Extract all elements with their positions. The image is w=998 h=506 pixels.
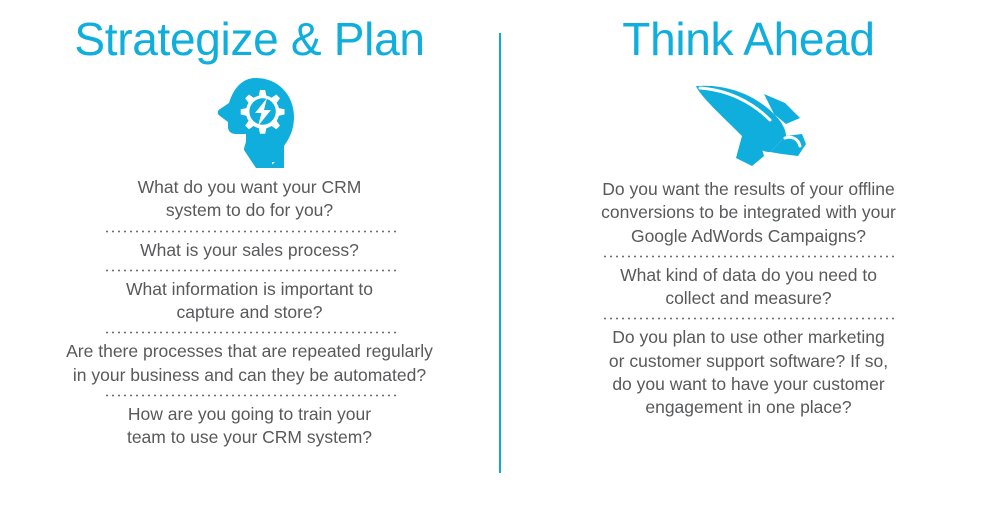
question-list-left: What do you want your CRM system to do f… [0,176,499,449]
list-item: How are you going to train your team to … [30,403,470,450]
column-strategize-plan: Strategize & Plan What do y [0,0,499,506]
dotted-separator [104,230,396,233]
column-title-right: Think Ahead [622,0,874,62]
infographic-root: Strategize & Plan What do y [0,0,998,506]
dotted-separator [602,255,896,258]
list-item: Are there processes that are repeated re… [30,340,470,387]
list-item: What is your sales process? [30,239,470,262]
list-item: What do you want your CRM system to do f… [30,176,470,223]
head-gear-lightning-icon [198,76,302,168]
rocket-icon [690,76,808,168]
dotted-separator [602,317,896,320]
dotted-separator [104,331,396,334]
dotted-separator [104,394,396,397]
column-think-ahead: Think Ahead Do you wa [499,0,998,506]
list-item: Do you want the results of your offline … [549,178,949,248]
list-item: Do you plan to use other marketing or cu… [549,326,949,419]
column-title-left: Strategize & Plan [74,0,424,62]
question-list-right: Do you want the results of your offline … [499,178,998,419]
list-item: What kind of data do you need to collect… [549,264,949,311]
dotted-separator [104,269,396,272]
list-item: What information is important to capture… [30,278,470,325]
